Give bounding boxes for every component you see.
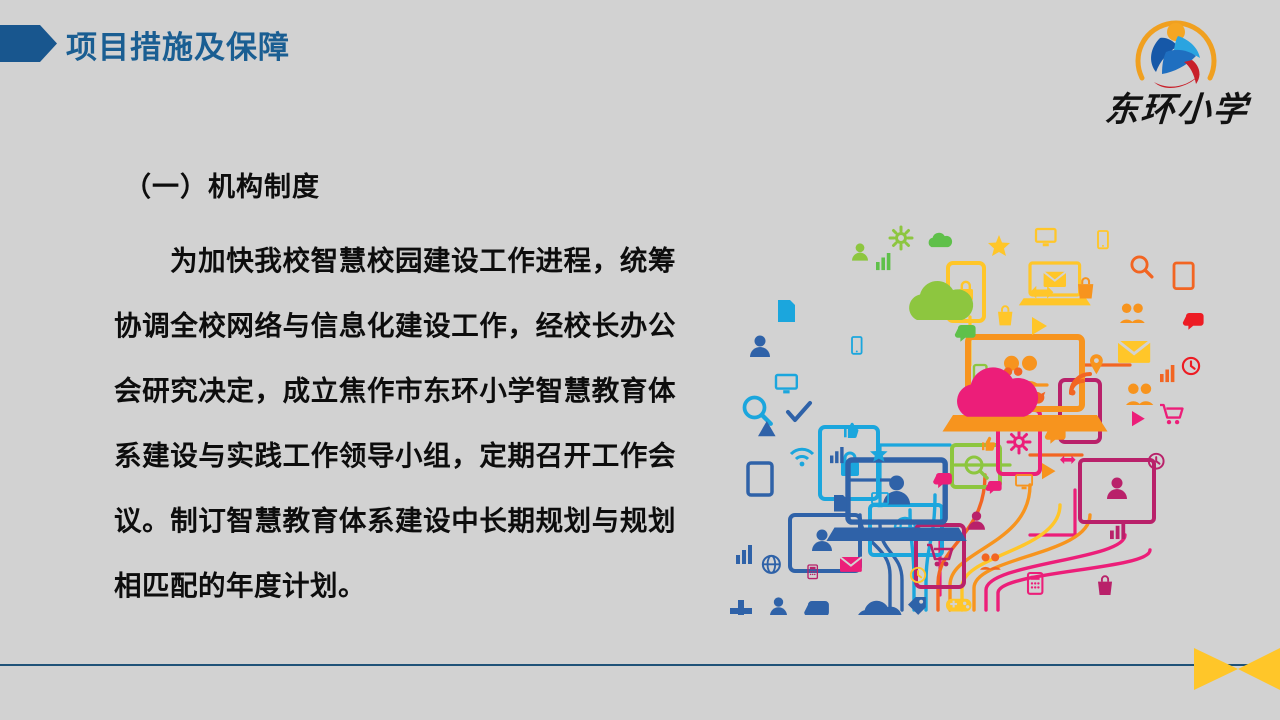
school-wordmark: 东环小学 xyxy=(1090,82,1263,131)
presentation-slide: 项目措施及保障 东环小学 （一）机构制度 为加快我校智慧校园建设工作进程 xyxy=(0,0,1280,720)
section-heading: （一）机构制度 xyxy=(124,165,320,204)
footer-marker-icon xyxy=(1190,645,1280,693)
page-title: 项目措施及保障 xyxy=(66,22,290,67)
school-logo: 东环小学 xyxy=(1092,4,1262,134)
body-paragraph: 为加快我校智慧校园建设工作进程，统筹协调全校网络与信息化建设工作，经校长办公会研… xyxy=(114,228,676,618)
footer-divider xyxy=(0,664,1280,666)
title-chevron-icon xyxy=(0,25,57,62)
technology-icon-tree-illustration: ? xyxy=(730,205,1230,615)
